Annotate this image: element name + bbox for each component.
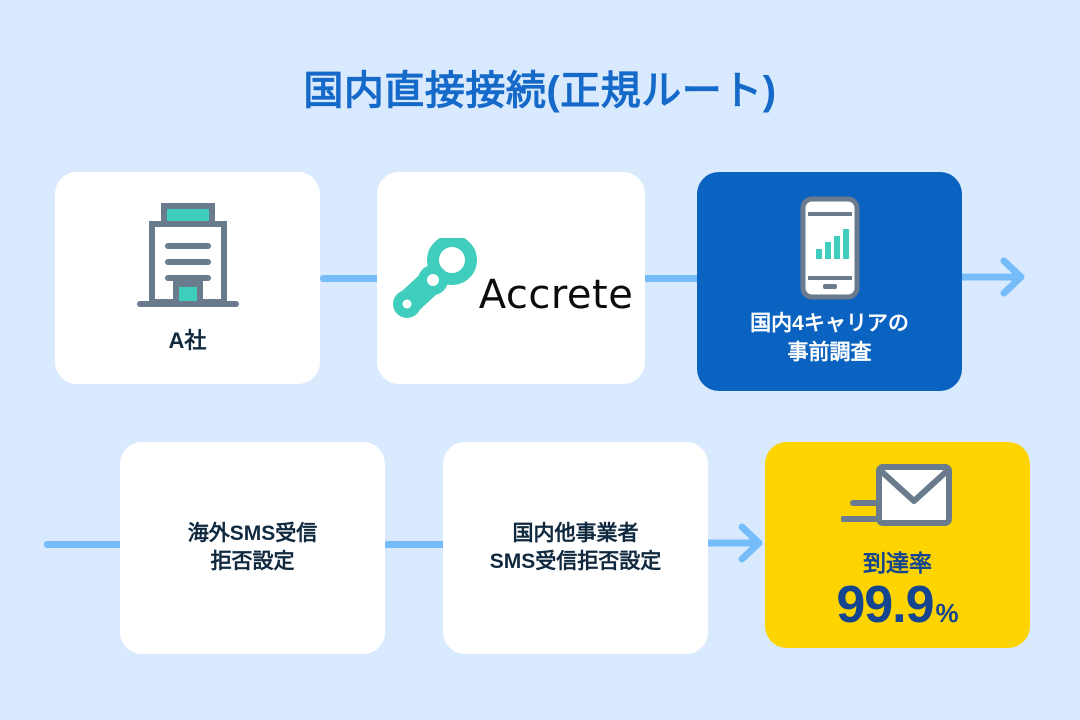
delivery-rate-value: 99.9 [836, 579, 933, 631]
card-domestic-carrier-sms[interactable]: 国内他事業者 SMS受信拒否設定 [443, 442, 708, 654]
connector-a-to-accrete [320, 275, 380, 282]
arrow-domestic-to-delivery-icon [706, 521, 772, 565]
envelope-icon [841, 459, 955, 543]
card-domestic-carrier-sms-label: 国内他事業者 SMS受信拒否設定 [490, 520, 662, 577]
card-carrier-survey[interactable]: 国内4キャリアの 事前調査 [697, 172, 962, 391]
card-carrier-survey-label: 国内4キャリアの 事前調査 [750, 310, 909, 367]
card-overseas-sms-label: 海外SMS受信 拒否設定 [188, 520, 318, 577]
delivery-rate-label: 到達率 [863, 551, 932, 576]
connector-overseas-to-domestic [384, 541, 446, 548]
card-overseas-sms[interactable]: 海外SMS受信 拒否設定 [120, 442, 385, 654]
card-a-company[interactable]: A社 [55, 172, 320, 384]
page-title: 国内直接接続(正規ルート) [0, 58, 1080, 116]
card-delivery-rate[interactable]: 到達率 99.9 % [765, 442, 1030, 648]
arrow-carrier-to-row2-icon [958, 255, 1038, 299]
building-icon [134, 200, 242, 312]
connector-row2-start [44, 541, 126, 548]
delivery-rate-value-row: 99.9 % [836, 579, 958, 631]
accrete-wordmark: Accrete [479, 272, 634, 318]
smartphone-chart-icon [799, 196, 861, 300]
accrete-logo-lockup: Accrete [389, 238, 634, 318]
card-a-company-label: A社 [169, 326, 207, 356]
delivery-rate-unit: % [936, 600, 959, 626]
diagram-canvas: 国内直接接続(正規ルート) [0, 0, 1080, 720]
connector-accrete-to-carrier [643, 275, 701, 282]
accrete-logo-icon [389, 238, 477, 318]
card-accrete[interactable]: Accrete [377, 172, 645, 384]
